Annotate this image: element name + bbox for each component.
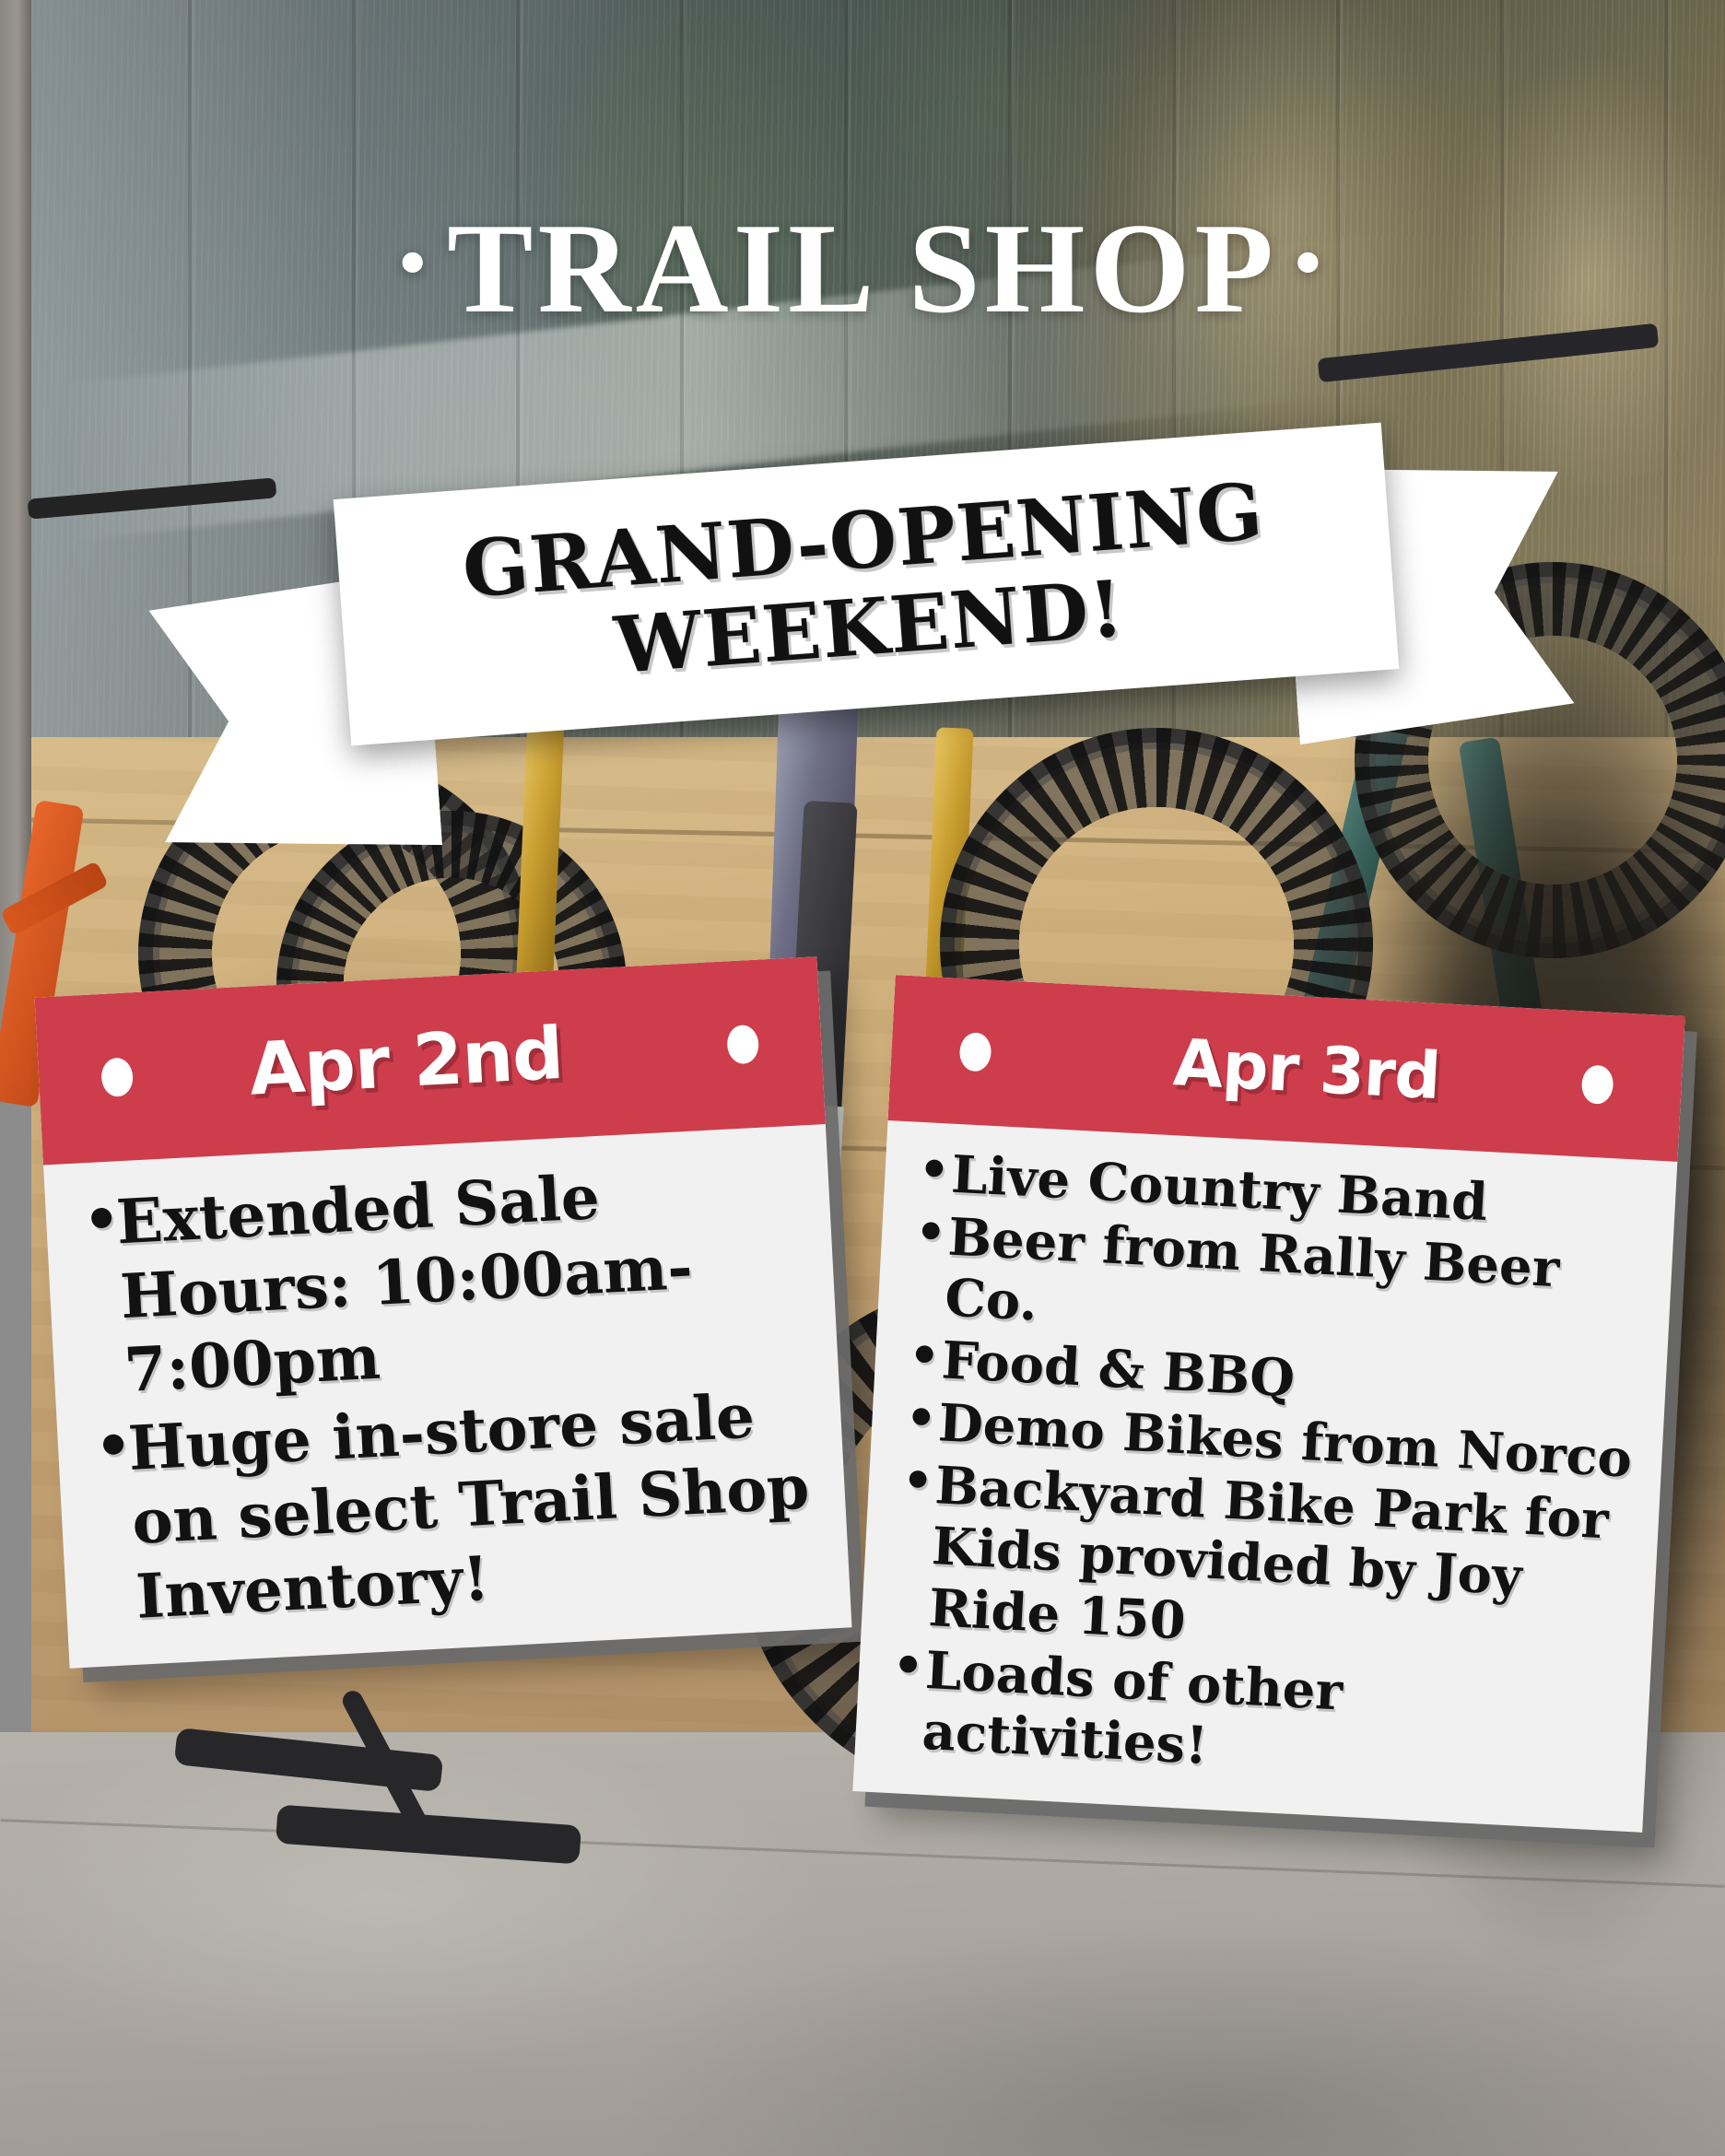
title-bullet-left: • bbox=[382, 220, 447, 304]
calendar-hole-icon-left bbox=[100, 1057, 134, 1097]
poster-canvas: •TRAIL SHOP• GRAND-OPENING WEEKEND! Apr … bbox=[0, 0, 1725, 2156]
date-label: Apr 2nd bbox=[248, 1018, 565, 1107]
date-card-body-apr-2: Extended Sale Hours: 10:00am-7:00pm Huge… bbox=[43, 1124, 851, 1669]
page-title: •TRAIL SHOP• bbox=[0, 205, 1725, 334]
date-card-apr-3: Apr 3rd Live Country Band Beer from Rall… bbox=[852, 975, 1684, 1832]
date-label: Apr 3rd bbox=[1172, 1030, 1442, 1108]
ribbon-main-panel: GRAND-OPENING WEEKEND! bbox=[334, 423, 1400, 746]
list-item: Backyard Bike Park for Kids provided by … bbox=[888, 1453, 1637, 1674]
list-item: Extended Sale Hours: 10:00am-7:00pm bbox=[76, 1150, 811, 1410]
event-list-apr-2: Extended Sale Hours: 10:00am-7:00pm Huge… bbox=[76, 1150, 822, 1636]
title-bullet-right: • bbox=[1278, 220, 1343, 304]
date-card-apr-2: Apr 2nd Extended Sale Hours: 10:00am-7:0… bbox=[35, 956, 852, 1669]
list-item: Huge in-store sale on select Trail Shop … bbox=[88, 1376, 823, 1635]
date-card-body-apr-3: Live Country Band Beer from Rally Beer C… bbox=[852, 1120, 1677, 1833]
calendar-hole-icon-right bbox=[1581, 1064, 1614, 1105]
calendar-hole-icon-right bbox=[726, 1025, 759, 1065]
ribbon-banner: GRAND-OPENING WEEKEND! bbox=[157, 433, 1567, 765]
calendar-hole-icon-left bbox=[958, 1032, 992, 1072]
title-text: TRAIL SHOP bbox=[447, 197, 1278, 340]
event-list-apr-3: Live Country Band Beer from Rally Beer C… bbox=[882, 1142, 1654, 1798]
